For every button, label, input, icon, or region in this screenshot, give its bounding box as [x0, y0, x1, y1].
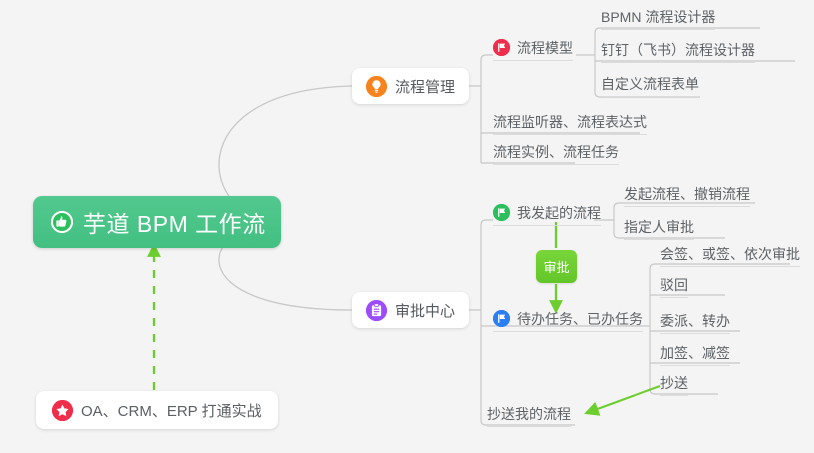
leaf-dingtalk-designer[interactable]: 钉钉（飞书）流程设计器 [601, 42, 755, 63]
node-process-listener[interactable]: 流程监听器、流程表达式 [493, 114, 647, 135]
leaf-add-remove-sign[interactable]: 加签、减签 [660, 345, 730, 366]
node-label: 会签、或签、依次审批 [660, 246, 800, 262]
node-label: 抄送我的流程 [487, 406, 571, 422]
leaf-delegate-transfer[interactable]: 委派、转办 [660, 313, 730, 334]
leaf-bpmn-designer[interactable]: BPMN 流程设计器 [601, 9, 715, 30]
node-label: 发起流程、撤销流程 [624, 186, 750, 202]
branch-node-approval-center[interactable]: 审批中心 [352, 292, 469, 328]
leaf-custom-form[interactable]: 自定义流程表单 [601, 76, 699, 97]
node-label: BPMN 流程设计器 [601, 9, 715, 25]
node-label: 流程监听器、流程表达式 [493, 114, 647, 130]
leaf-reject[interactable]: 驳回 [660, 277, 688, 298]
node-todo-done-tasks[interactable]: 待办任务、已办任务 [493, 310, 643, 332]
bottom-node-label: OA、CRM、ERP 打通实战 [81, 400, 262, 421]
clipboard-icon [366, 300, 387, 321]
annotation-badge-approval: 审批 [536, 250, 577, 283]
root-node[interactable]: 芋道 BPM 工作流 [33, 196, 281, 248]
node-label: 流程实例、流程任务 [493, 144, 619, 160]
branch-label: 流程管理 [395, 76, 455, 97]
leaf-multi-sign-approval[interactable]: 会签、或签、依次审批 [660, 246, 800, 267]
leaf-start-cancel-process[interactable]: 发起流程、撤销流程 [624, 186, 750, 207]
node-label: 抄送 [660, 375, 688, 391]
bottom-node-integration[interactable]: OA、CRM、ERP 打通实战 [36, 391, 278, 429]
node-process-model[interactable]: 流程模型 [493, 39, 573, 61]
lightbulb-icon [366, 76, 387, 97]
leaf-assignee-approval[interactable]: 指定人审批 [624, 219, 694, 240]
root-label: 芋道 BPM 工作流 [83, 205, 266, 239]
node-label: 自定义流程表单 [601, 76, 699, 92]
node-label: 待办任务、已办任务 [517, 311, 643, 327]
annotation-label: 审批 [543, 257, 569, 276]
flag-icon [493, 39, 510, 56]
node-process-instance[interactable]: 流程实例、流程任务 [493, 144, 619, 165]
branch-node-process-management[interactable]: 流程管理 [352, 68, 469, 104]
star-icon [52, 400, 73, 421]
node-my-initiated-process[interactable]: 我发起的流程 [493, 204, 601, 226]
node-label: 流程模型 [517, 40, 573, 56]
leaf-cc[interactable]: 抄送 [660, 375, 688, 396]
node-label: 驳回 [660, 277, 688, 293]
node-label: 委派、转办 [660, 313, 730, 329]
branch-label: 审批中心 [395, 300, 455, 321]
mindmap-canvas: 芋道 BPM 工作流 流程管理 流程模型 流程监听器、流程表达式 流程实例、流 [0, 0, 814, 453]
flag-icon [493, 310, 510, 327]
node-cc-to-me-process[interactable]: 抄送我的流程 [487, 406, 571, 427]
node-label: 钉钉（飞书）流程设计器 [601, 42, 755, 58]
node-label: 指定人审批 [624, 219, 694, 235]
flag-icon [493, 204, 510, 221]
node-label: 加签、减签 [660, 345, 730, 361]
thumbs-up-icon [51, 211, 73, 233]
node-label: 我发起的流程 [517, 205, 601, 221]
